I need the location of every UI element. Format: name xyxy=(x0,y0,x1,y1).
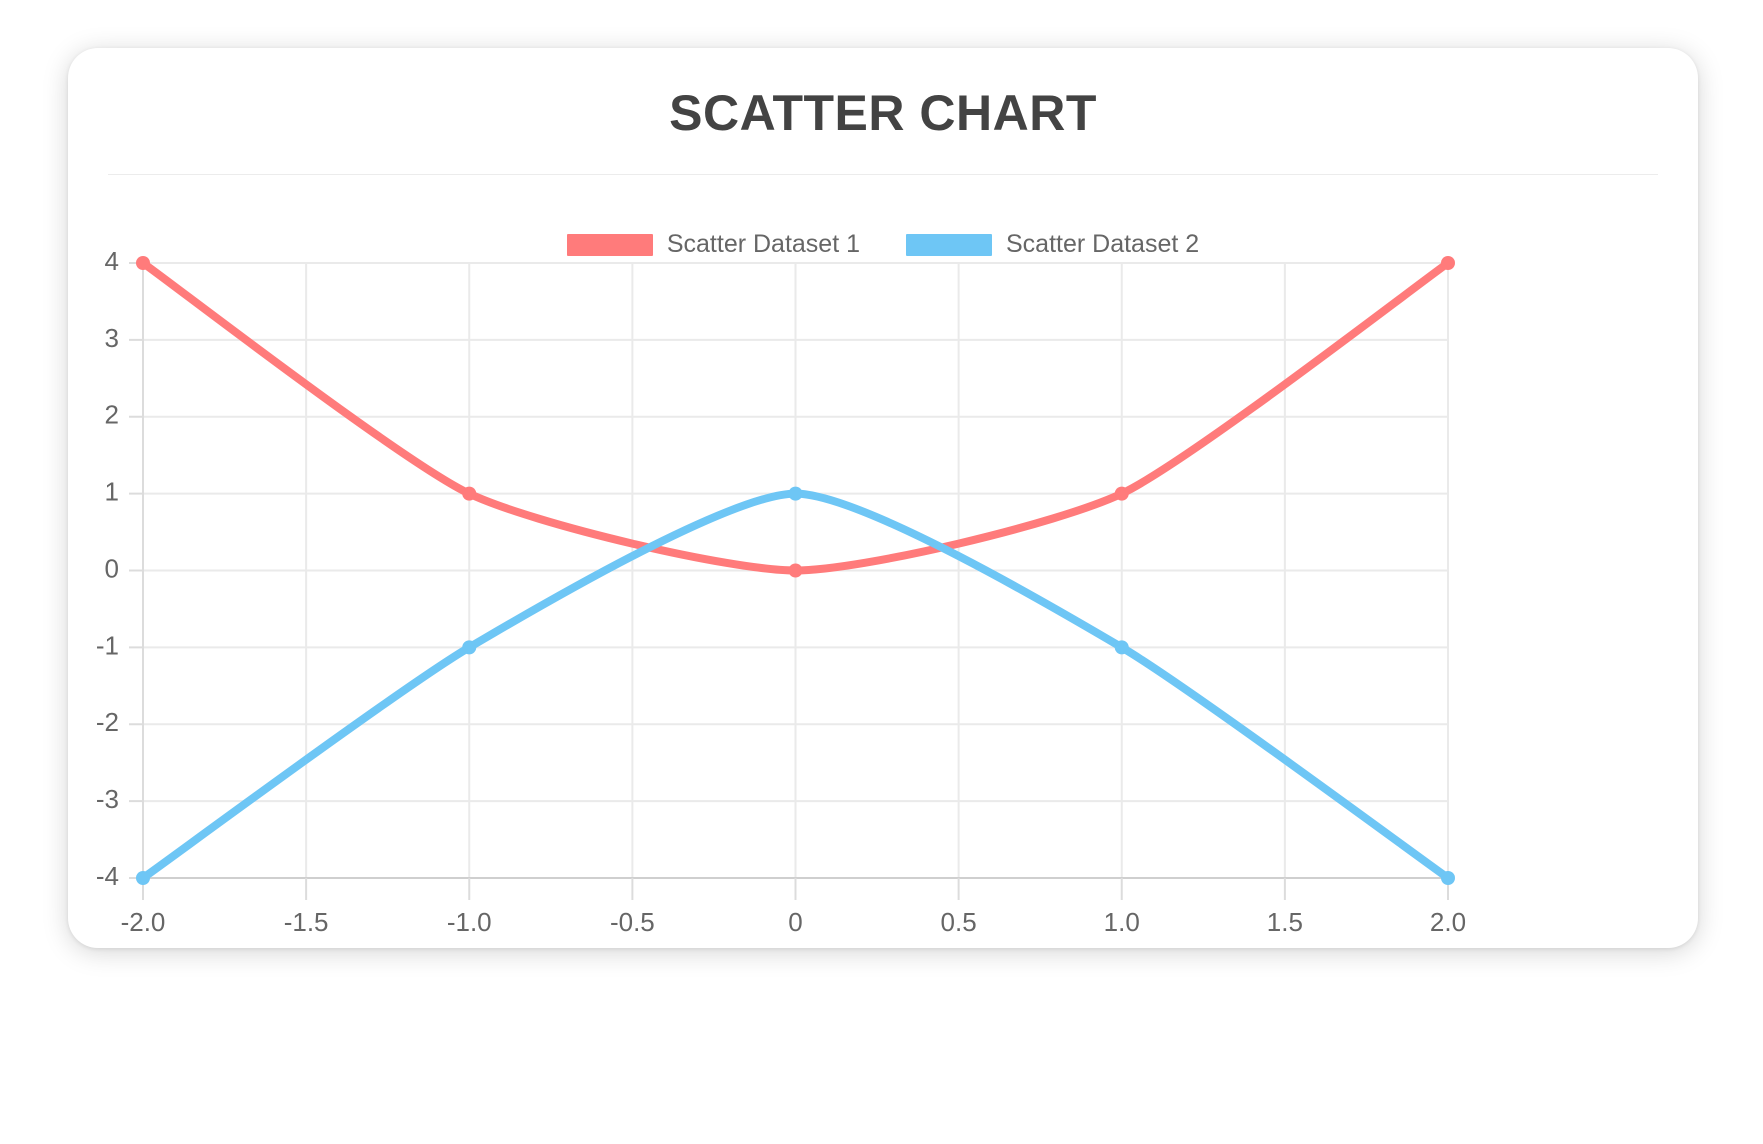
y-tick-label: 0 xyxy=(105,553,119,583)
chart-card: SCATTER CHART Scatter Dataset 1Scatter D… xyxy=(68,48,1698,948)
series-data-point[interactable] xyxy=(789,487,803,501)
series-data-point[interactable] xyxy=(1115,487,1129,501)
y-tick-label: 1 xyxy=(105,477,119,507)
y-tick-label: -4 xyxy=(96,861,119,891)
plot-area: -2.0-1.5-1.0-0.500.51.01.52.043210-1-2-3… xyxy=(68,48,1698,948)
y-tick-label: -3 xyxy=(96,784,119,814)
x-tick-label: 0 xyxy=(788,907,802,937)
x-tick-label: 2.0 xyxy=(1430,907,1466,937)
series-data-point[interactable] xyxy=(1115,640,1129,654)
series-data-point[interactable] xyxy=(136,871,150,885)
y-tick-label: 4 xyxy=(105,246,119,276)
y-tick-label: -2 xyxy=(96,707,119,737)
x-tick-label: -0.5 xyxy=(610,907,655,937)
y-tick-label: -1 xyxy=(96,630,119,660)
scatter-plot-svg: -2.0-1.5-1.0-0.500.51.01.52.043210-1-2-3… xyxy=(68,48,1698,948)
y-tick-label: 3 xyxy=(105,323,119,353)
y-tick-label: 2 xyxy=(105,400,119,430)
series-data-point[interactable] xyxy=(1441,871,1455,885)
series-data-point[interactable] xyxy=(789,564,803,578)
x-tick-label: -1.0 xyxy=(447,907,492,937)
x-tick-label: 1.0 xyxy=(1104,907,1140,937)
x-tick-label: 0.5 xyxy=(941,907,977,937)
series-data-point[interactable] xyxy=(136,256,150,270)
series-data-point[interactable] xyxy=(462,640,476,654)
x-tick-label: -2.0 xyxy=(121,907,166,937)
screenshot-root: SCATTER CHART Scatter Dataset 1Scatter D… xyxy=(0,0,1763,1144)
x-tick-label: 1.5 xyxy=(1267,907,1303,937)
series-data-point[interactable] xyxy=(462,487,476,501)
x-tick-label: -1.5 xyxy=(284,907,329,937)
series-data-point[interactable] xyxy=(1441,256,1455,270)
